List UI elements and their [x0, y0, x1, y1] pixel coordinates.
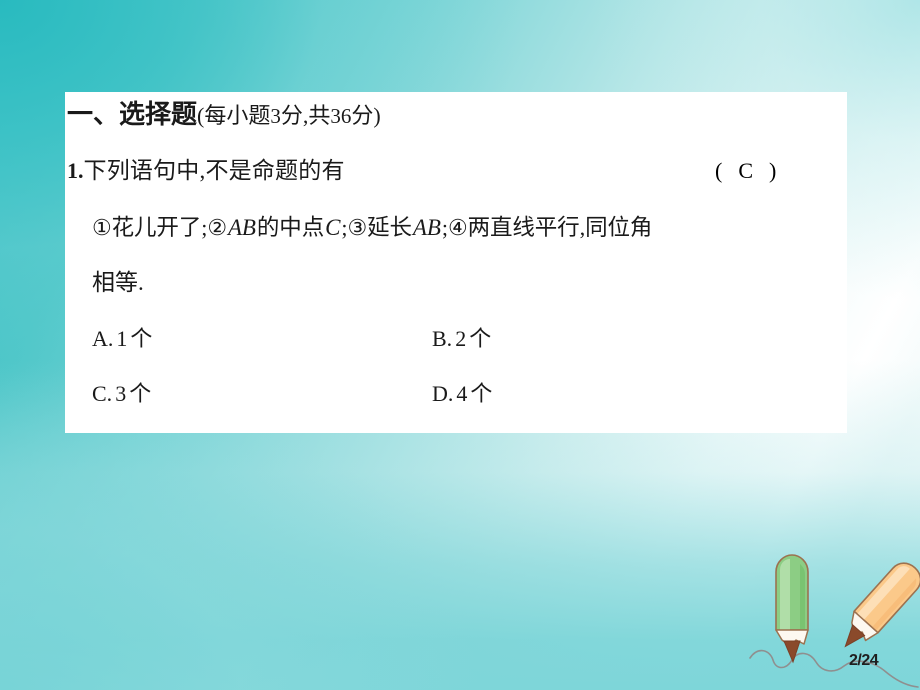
statement-2-marker: ② — [207, 215, 227, 240]
statement-1-marker: ① — [92, 215, 112, 240]
option-b-unit: 个 — [469, 326, 491, 351]
question-stem-text: 下列语句中,不是命题的有 — [84, 158, 345, 183]
answer-letter: C — [724, 158, 769, 183]
section-per-item-unit: 分 — [281, 103, 303, 128]
option-d-unit: 个 — [470, 381, 492, 406]
option-a-value: 1 — [113, 326, 130, 351]
section-total-score: 36 — [330, 104, 351, 128]
section-heading-title: 一、选择题 — [67, 100, 197, 129]
options-row-ab: A.1个B.2个 — [92, 322, 874, 356]
question-number: 1. — [67, 158, 84, 183]
slide-root: 一、选择题(每小题3分,共36分) 1.下列语句中,不是命题的有 (C) ①花儿… — [0, 0, 920, 690]
answer-bracket: (C) — [715, 154, 778, 188]
statement-2-text: 的中点 — [257, 215, 324, 240]
statement-3-text: 延长 — [367, 215, 412, 240]
option-a-unit: 个 — [130, 326, 152, 351]
option-d-key: D. — [432, 381, 453, 406]
page-indicator: 2/24 — [849, 652, 878, 670]
option-c-unit: 个 — [129, 381, 151, 406]
section-per-item-label: 每小题 — [204, 103, 270, 128]
option-d-value: 4 — [453, 381, 470, 406]
content-card: 一、选择题(每小题3分,共36分) 1.下列语句中,不是命题的有 (C) ①花儿… — [65, 92, 847, 433]
section-per-item-score: 3 — [270, 104, 281, 128]
statement-4-text: 两直线平行,同位角 — [468, 215, 653, 240]
option-c-key: C. — [92, 381, 112, 406]
option-b-key: B. — [432, 326, 452, 351]
statement-2-math-point: C — [324, 215, 341, 240]
option-c-value: 3 — [112, 381, 129, 406]
option-a[interactable]: A.1个 — [92, 322, 432, 356]
statement-2-math: AB — [227, 215, 257, 240]
answer-paren-open: ( — [715, 158, 724, 183]
option-b[interactable]: B.2个 — [432, 322, 772, 356]
section-heading: 一、选择题(每小题3分,共36分) — [67, 97, 849, 134]
statement-3-math: AB — [412, 215, 442, 240]
section-total-label: 共 — [308, 103, 330, 128]
section-total-unit: 分 — [351, 103, 373, 128]
option-b-value: 2 — [452, 326, 469, 351]
statements-line-2: 相等. — [92, 266, 874, 300]
statement-4-marker: ④ — [448, 215, 468, 240]
statement-1-text: 花儿开了 — [112, 215, 202, 240]
statements-line-1: ①花儿开了;②AB的中点C;③延长AB;④两直线平行,同位角 — [92, 211, 874, 245]
answer-paren-close: ) — [769, 158, 778, 183]
option-a-key: A. — [92, 326, 113, 351]
content-card-inner: 一、选择题(每小题3分,共36分) 1.下列语句中,不是命题的有 (C) ①花儿… — [65, 92, 847, 433]
statement-3-marker: ③ — [347, 215, 367, 240]
section-paren-close: ) — [373, 103, 380, 128]
option-d[interactable]: D.4个 — [432, 377, 772, 411]
option-c[interactable]: C.3个 — [92, 377, 432, 411]
options-row-cd: C.3个D.4个 — [92, 377, 874, 411]
